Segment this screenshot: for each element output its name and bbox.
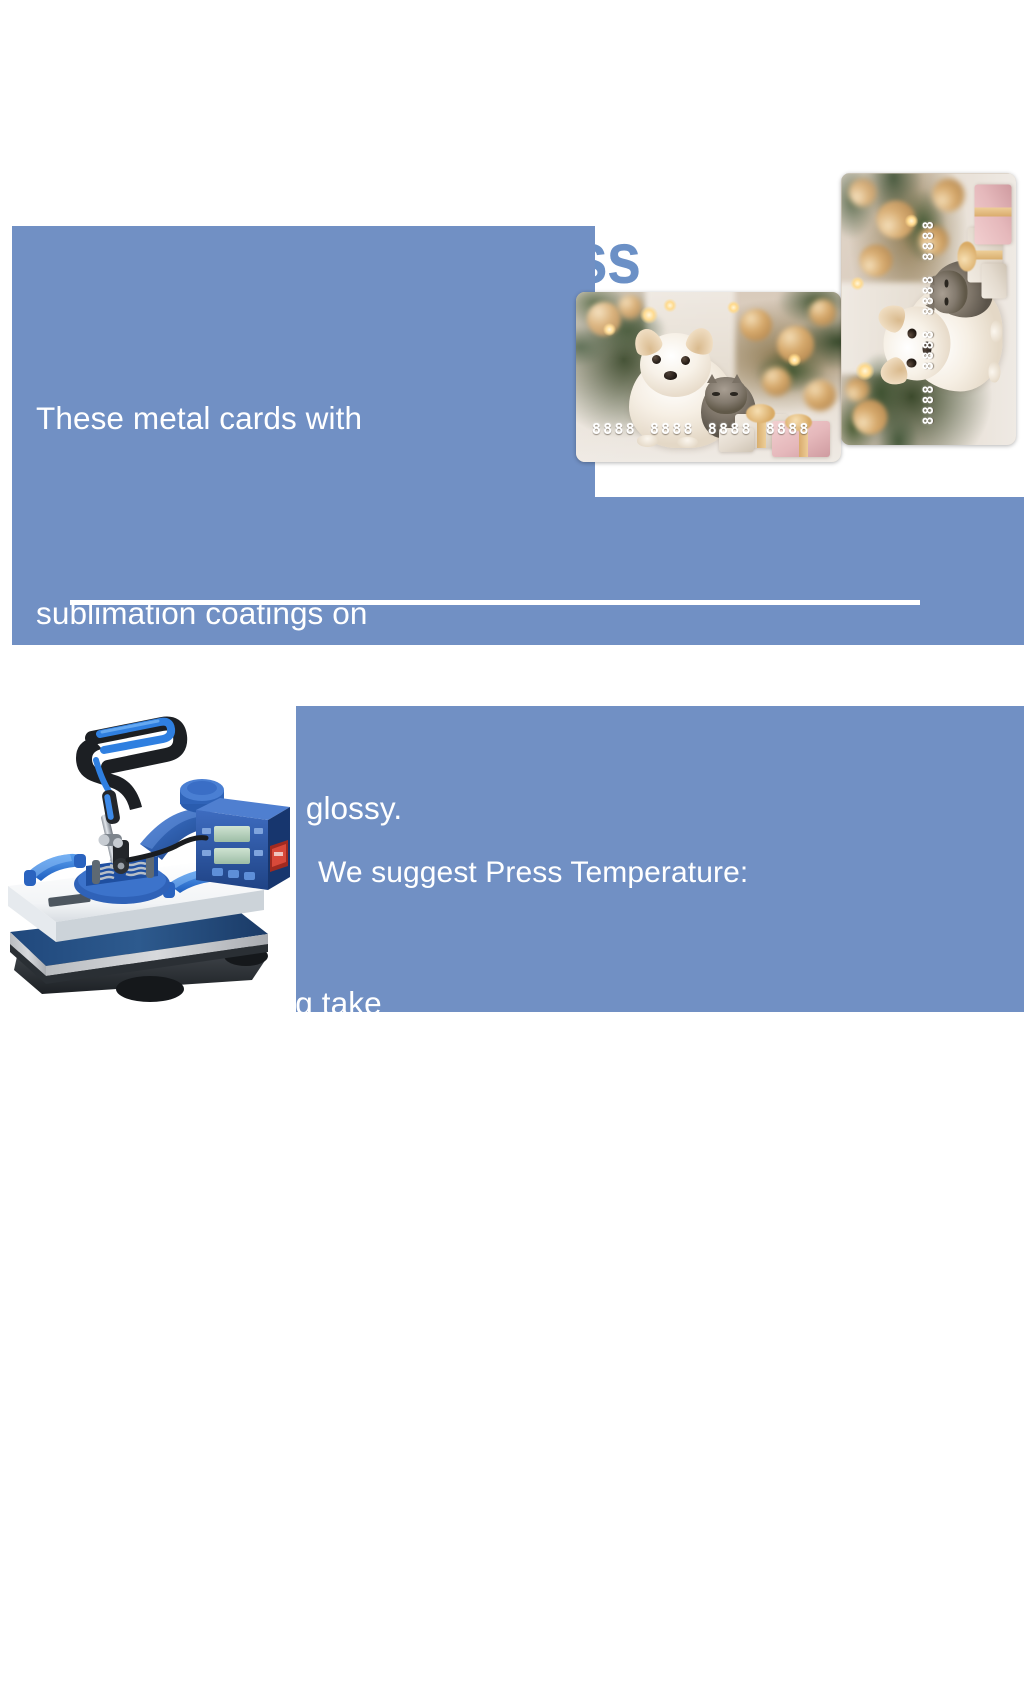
card-number: 8888 8888 8888 8888 — [592, 420, 811, 438]
press-main-handle[interactable] — [76, 721, 180, 825]
fairy-light-icon — [788, 353, 801, 367]
cat-ear-right — [732, 374, 742, 383]
ornament-icon — [762, 367, 791, 396]
press-settings-line-1: We suggest Press Temperature: — [318, 844, 1024, 901]
press-display-label-time — [202, 850, 211, 856]
dog-nose — [664, 371, 677, 380]
press-settings-text: We suggest Press Temperature: about 355-… — [318, 730, 1024, 1699]
card-number-group: 8888 — [708, 420, 753, 438]
ornament-icon — [859, 244, 892, 277]
press-foot-front — [116, 976, 184, 1002]
gift-bow — [957, 241, 976, 271]
press-display-bottom — [214, 848, 250, 864]
cat-eye-left — [712, 392, 720, 395]
description-line-2: sublimation coatings on — [36, 581, 1024, 646]
card-number-group: 8888 — [921, 329, 937, 371]
dog-paw-right — [990, 320, 1002, 342]
dog-eye-left — [906, 358, 916, 368]
press-controller[interactable] — [196, 798, 290, 890]
gift-ribbon — [974, 207, 1011, 217]
fairy-light-icon — [663, 299, 676, 313]
ornament-icon — [804, 380, 836, 411]
divider-rule — [70, 600, 920, 605]
heat-press-illustration — [0, 694, 290, 1024]
dog-paw-left — [988, 361, 1000, 383]
press-settings-line-4: machines require different sublimation — [318, 1357, 1024, 1414]
card-number-group: 8888 — [921, 383, 937, 425]
metal-card-horizontal: 8888 8888 8888 8888 — [576, 292, 841, 462]
heat-press-machine — [0, 694, 290, 1024]
fairy-light-icon — [603, 323, 616, 337]
ornament-icon — [809, 299, 836, 326]
press-display-top — [214, 826, 250, 842]
cat-ear-left — [707, 374, 717, 383]
cat-head — [705, 377, 747, 414]
ornament-icon — [852, 399, 887, 434]
infographic-page: Sublimation Business Card Blanks These m… — [0, 0, 1024, 1024]
gift-box-pink — [974, 184, 1011, 244]
christmas-pet-photo: 8888 8888 8888 8888 — [576, 292, 841, 462]
ornament-icon — [845, 377, 870, 401]
fairy-light-icon — [904, 214, 918, 228]
dog-eye-right — [907, 328, 917, 338]
card-number-group: 8888 — [921, 219, 937, 261]
cat-eye-right — [944, 279, 948, 287]
cat-eye-right — [730, 392, 738, 395]
gift-box-white-small — [981, 263, 1006, 298]
card-number-group: 8888 — [921, 274, 937, 316]
press-display-label-temp — [202, 828, 211, 834]
cat-eye-left — [944, 297, 948, 305]
card-number-group: 8888 — [766, 420, 811, 438]
card-number-group: 8888 — [650, 420, 695, 438]
press-settings-line-3: Time: about 25-35 seconds. Different — [318, 1186, 1024, 1243]
ornament-icon — [848, 178, 876, 205]
card-number-group: 8888 — [592, 420, 637, 438]
fairy-light-icon — [855, 361, 874, 380]
press-settings-line-5: conditions. — [318, 1528, 1024, 1585]
metal-card-vertical: 8888 8888 8888 8888 — [841, 173, 1016, 445]
fairy-light-icon — [850, 276, 864, 290]
card-number: 8888 8888 8888 8888 — [921, 177, 937, 441]
